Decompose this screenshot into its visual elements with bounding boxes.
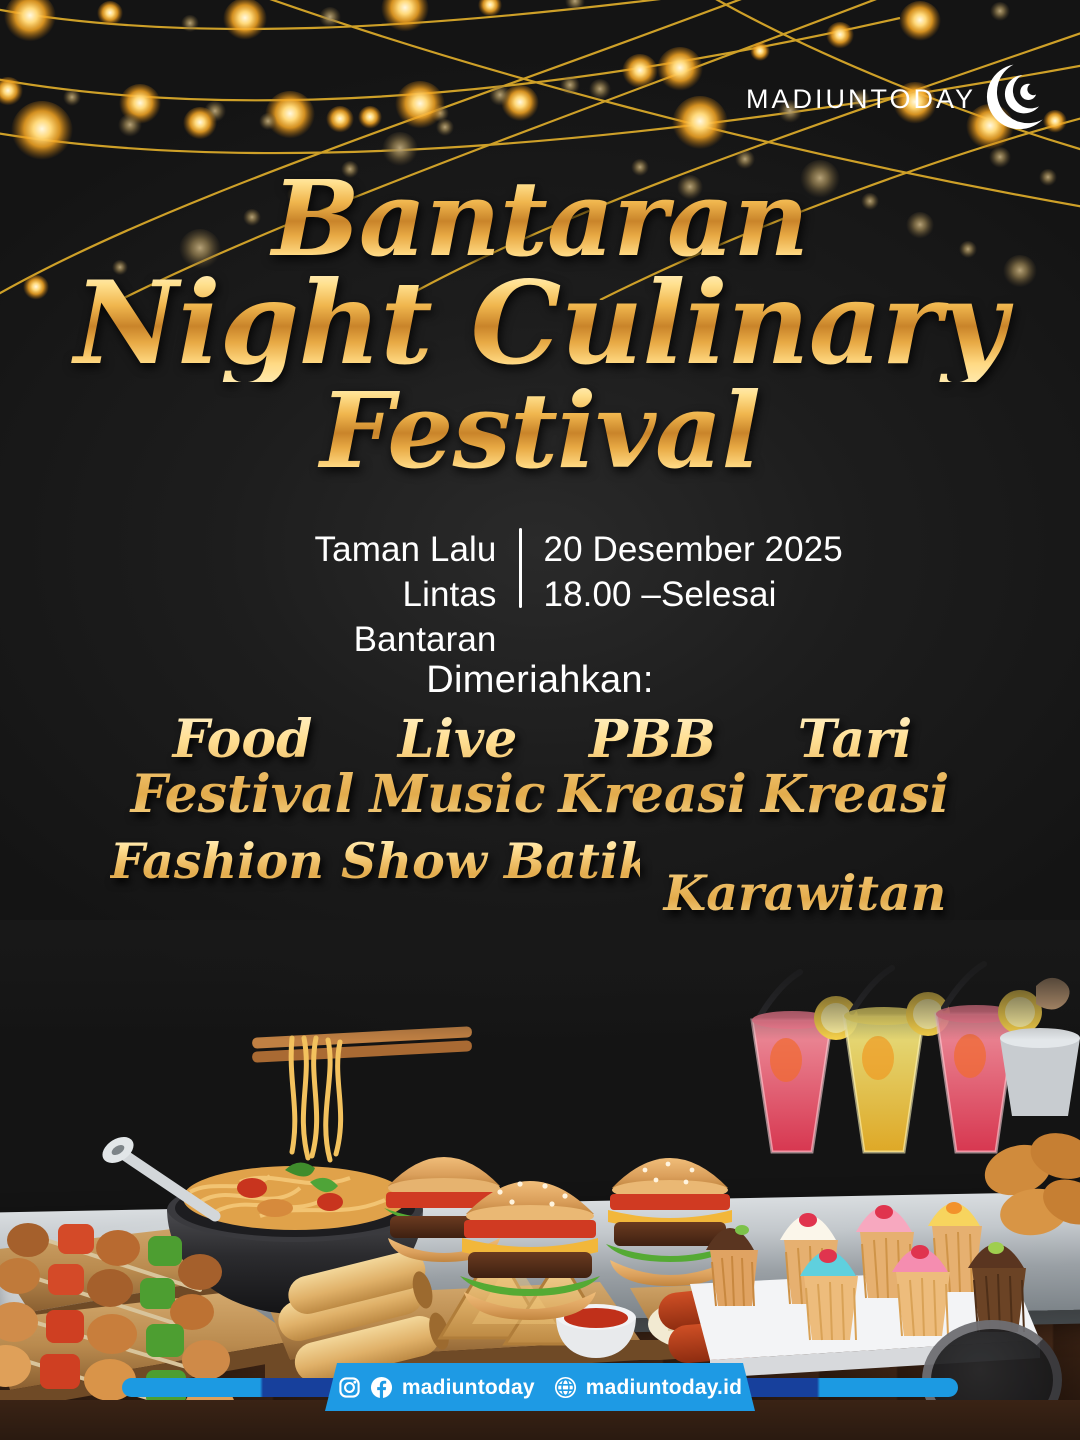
lineup-item-live-music: Live Music xyxy=(363,712,553,822)
lineup-row-1: Food Festival Live Music PBB Kreasi Tari… xyxy=(0,712,1080,822)
act-line-2: Kreasi xyxy=(753,767,958,822)
act-line-1: Live xyxy=(363,712,553,767)
act-line-1: Karawitan xyxy=(664,864,947,922)
website-url[interactable]: madiuntoday.id xyxy=(586,1377,742,1398)
act-line-2: Festival xyxy=(123,767,363,822)
social-footer-bar: madiuntoday madiuntoday.id xyxy=(0,1372,1080,1402)
food-spread-photo xyxy=(0,920,1080,1440)
datetime-block: 20 Desember 2025 18.00 –Selesai xyxy=(544,526,854,662)
lineup-item-karawitan: Karawitan xyxy=(640,835,970,920)
drink-pink-1 xyxy=(752,972,858,1152)
poster-canvas: MADIUNTODAY Bantaran Night Culinary Fest… xyxy=(0,0,1080,1440)
act-line-2: Music xyxy=(363,767,553,822)
venue-line-2: Bantaran xyxy=(227,618,497,663)
act-line-2: Kreasi xyxy=(553,767,753,822)
event-date: 20 Desember 2025 xyxy=(544,528,854,573)
act-line-1: Fashion Show xyxy=(110,832,487,890)
venue-line-1: Taman Lalu Lintas xyxy=(227,528,497,618)
title-line-3: Festival xyxy=(0,378,1080,484)
lineup-item-food-festival: Food Festival xyxy=(123,712,363,822)
globe-icon[interactable] xyxy=(554,1376,577,1399)
event-time: 18.00 –Selesai xyxy=(544,573,854,618)
act-line-1: Food xyxy=(123,712,363,767)
logo-wordmark: MADIUNTODAY xyxy=(746,86,976,113)
title-line-2: Night Culinary xyxy=(0,266,1080,382)
social-handles-pill: madiuntoday madiuntoday.id xyxy=(325,1363,755,1411)
poster-title: Bantaran Night Culinary Festival xyxy=(0,166,1080,484)
facebook-icon[interactable] xyxy=(370,1376,393,1399)
act-line-1: PBB xyxy=(553,712,753,767)
food-items-illustration xyxy=(0,920,1080,1440)
instagram-icon[interactable] xyxy=(338,1376,361,1399)
instagram-handle[interactable]: madiuntoday xyxy=(402,1377,535,1398)
lineup-item-tari-kreasi: Tari Kreasi xyxy=(753,712,958,822)
info-divider xyxy=(519,528,522,608)
lineup-item-pbb-kreasi: PBB Kreasi xyxy=(553,712,753,822)
drink-yellow xyxy=(844,968,950,1152)
act-line-1: Tari xyxy=(753,712,958,767)
lineup-item-fashion-show: Fashion Show Batik Khas Madiun xyxy=(110,835,640,888)
crescent-swoosh-icon xyxy=(978,62,1052,136)
lineup-row-2: Fashion Show Batik Khas Madiun Karawitan xyxy=(0,835,1080,920)
event-info-row: Taman Lalu Lintas Bantaran 20 Desember 2… xyxy=(0,526,1080,662)
venue-block: Taman Lalu Lintas Bantaran xyxy=(227,526,497,662)
brand-logo: MADIUNTODAY xyxy=(746,62,1052,136)
lineup-label: Dimeriahkan: xyxy=(0,659,1080,702)
